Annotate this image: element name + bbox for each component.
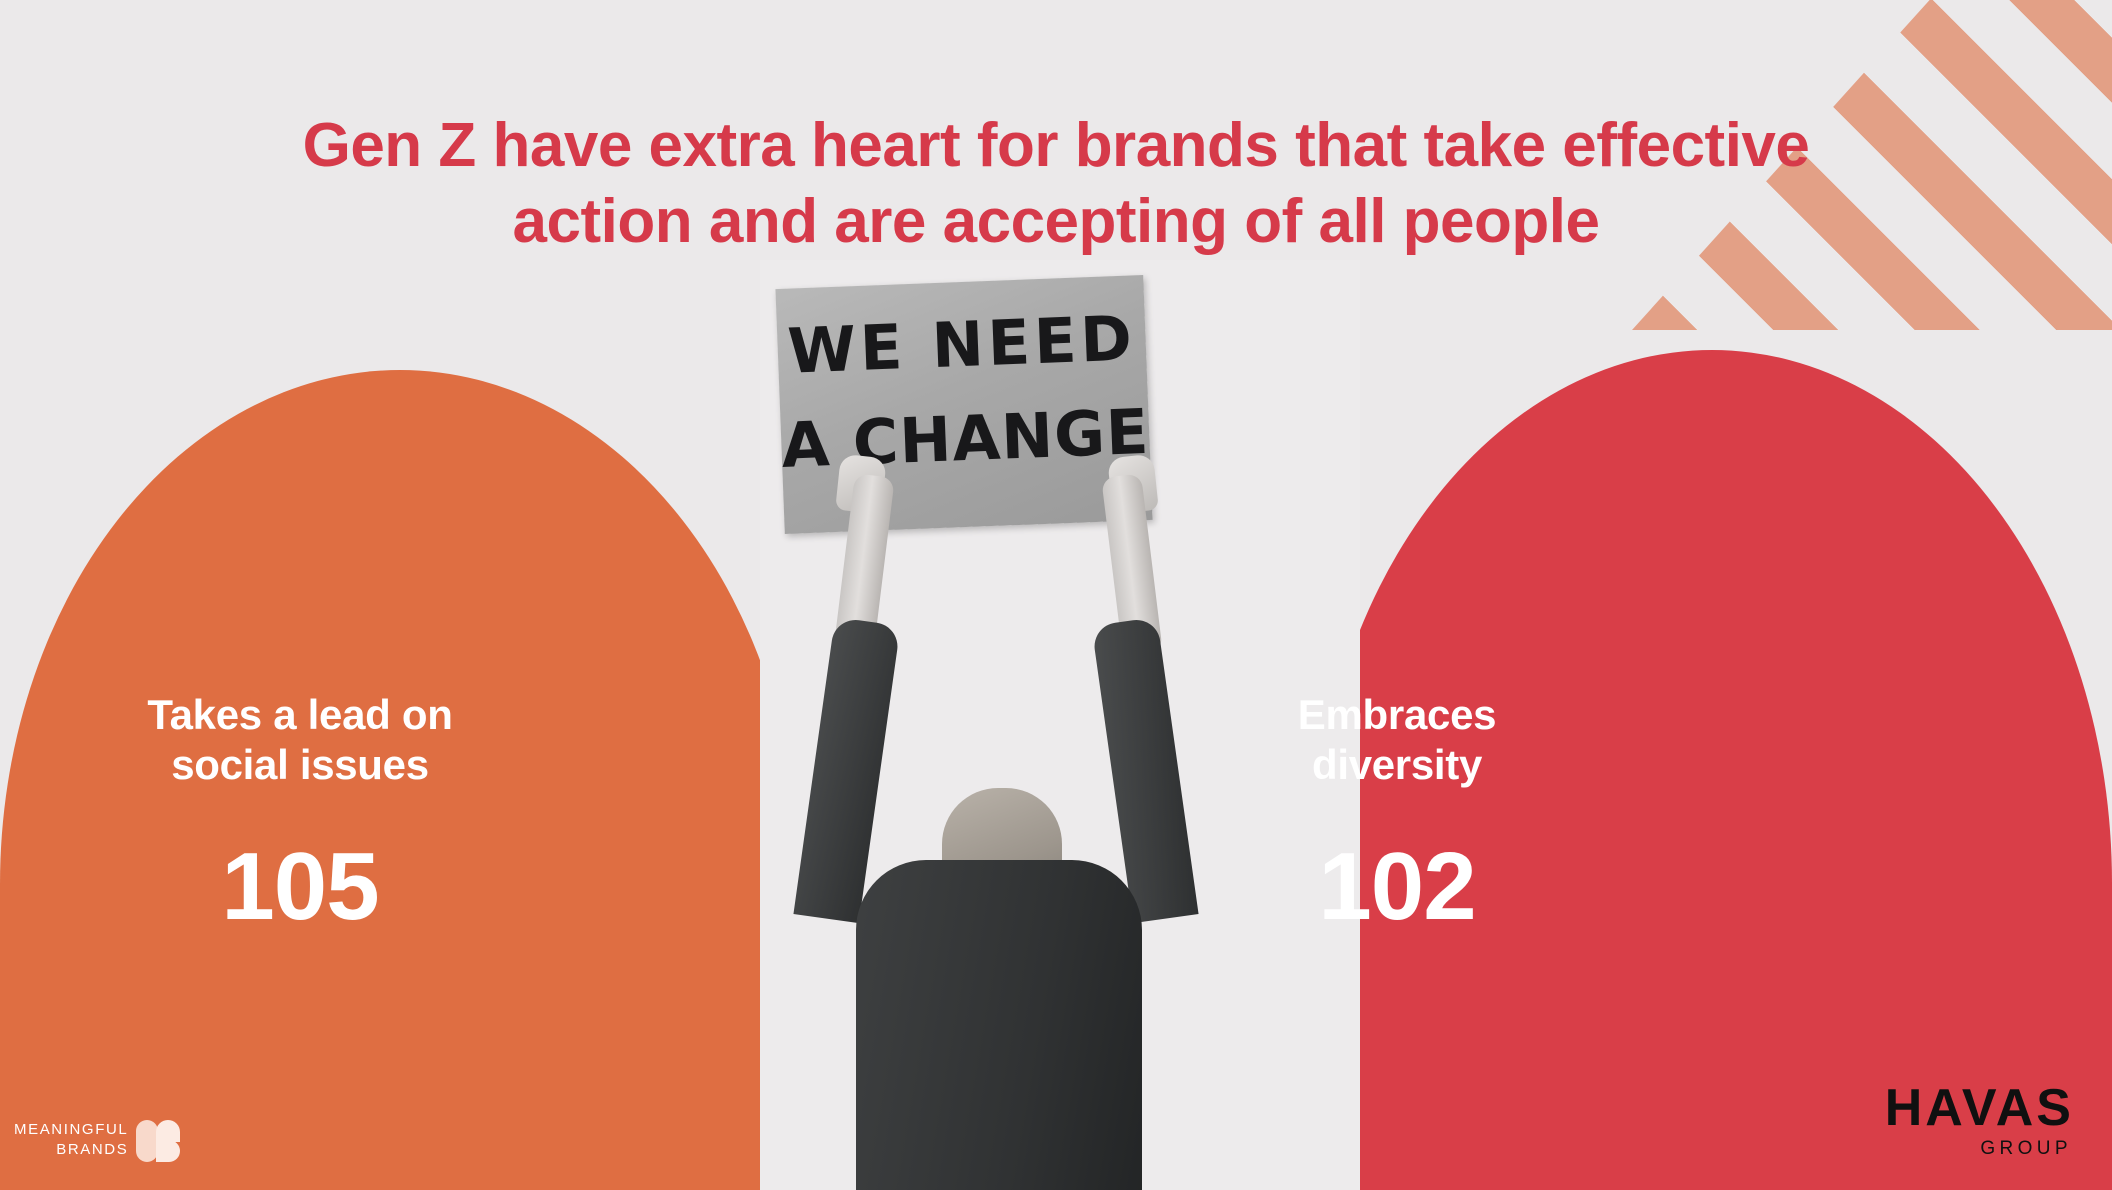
title-line-1: Gen Z have extra heart for brands that t… [303,111,1810,180]
stat-right-value: 102 [1162,839,1632,935]
placard-line-1: WE NEED [776,301,1147,388]
heart-lobe-bottom-left [136,1140,158,1162]
stat-left-label-line2: social issues [171,741,429,788]
havas-wordmark: HAVAS [1885,1082,2074,1134]
havas-subtitle: GROUP [1885,1138,2072,1160]
page-title: Gen Z have extra heart for brands that t… [0,108,2112,259]
havas-group-logo: HAVAS GROUP [1885,1082,2074,1160]
stat-block-right: Embraces diversity 102 [1162,690,1632,935]
meaningful-brands-line2: BRANDS [14,1140,128,1160]
stat-left-label: Takes a lead on social issues [65,690,535,791]
stat-right-label-line1: Embraces [1298,691,1496,738]
person-torso [856,860,1142,1190]
stat-right-label-line2: diversity [1312,741,1482,788]
heart-lobe-top-right [156,1120,180,1142]
stat-right-label: Embraces diversity [1162,690,1632,791]
double-heart-b-icon [136,1116,180,1164]
meaningful-brands-wordmark: MEANINGFUL BRANDS [14,1120,128,1161]
heart-lobe-bottom-right [156,1140,180,1162]
heart-lobe-top-left [136,1120,158,1142]
slide-canvas: Gen Z have extra heart for brands that t… [0,0,2112,1190]
placard-line-2: A CHANGE [780,395,1151,482]
stat-left-value: 105 [65,839,535,935]
stat-block-left: Takes a lead on social issues 105 [65,690,535,935]
stat-left-label-line1: Takes a lead on [147,691,452,738]
meaningful-brands-line1: MEANINGFUL [14,1121,128,1138]
meaningful-brands-logo: MEANINGFUL BRANDS [14,1116,180,1164]
protest-placard: WE NEED A CHANGE [775,275,1152,534]
title-line-2: action and are accepting of all people [90,184,2022,260]
